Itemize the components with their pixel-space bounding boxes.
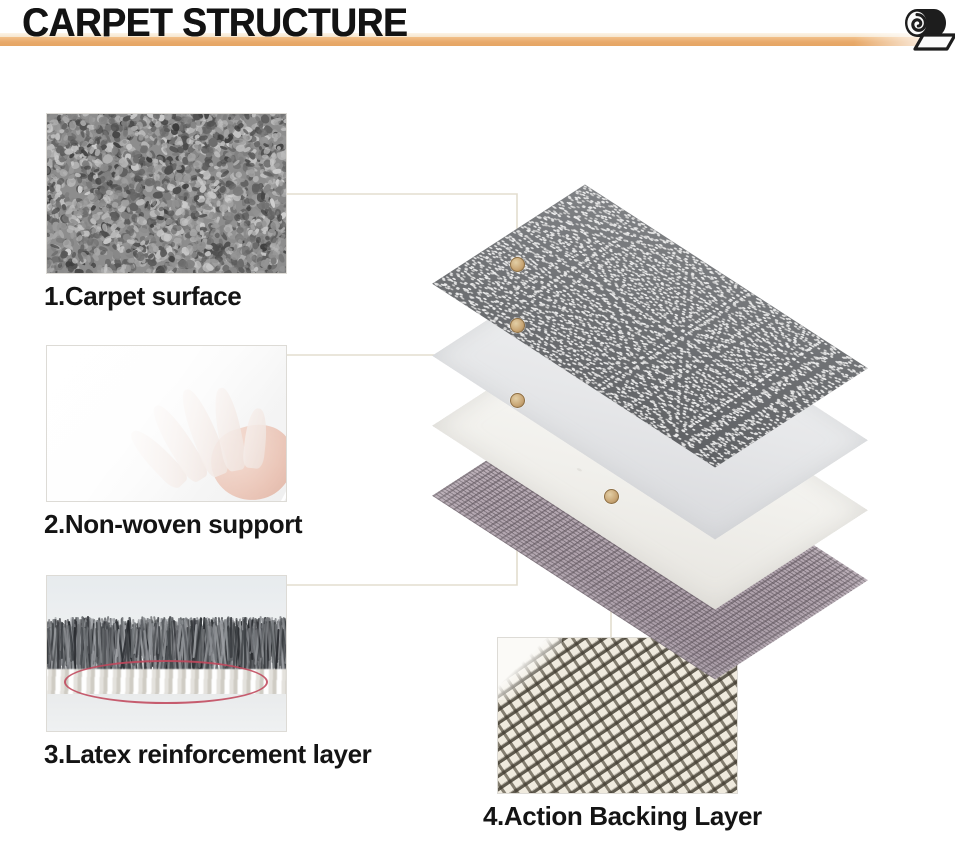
header: CARPET STRUCTURE — [0, 0, 969, 62]
caption-layer-4: 4.Action Backing Layer — [483, 801, 762, 832]
translucent-sheet-overlay — [47, 346, 286, 501]
layer-marker-3[interactable] — [510, 393, 525, 408]
page-title: CARPET STRUCTURE — [22, 1, 407, 46]
carpet-roll-icon — [893, 5, 955, 53]
layer-marker-2[interactable] — [510, 318, 525, 333]
non-woven-support-thumbnail — [46, 345, 287, 502]
infographic-canvas: CARPET STRUCTURE 1.Carpet surface — [0, 0, 969, 841]
highlight-ellipse — [64, 660, 269, 704]
carpet-surface-thumbnail — [46, 113, 287, 274]
latex-reinforcement-thumbnail — [46, 575, 287, 732]
caption-layer-2: 2.Non-woven support — [44, 509, 302, 540]
layer-marker-4[interactable] — [604, 489, 619, 504]
mesh-corner-fade — [498, 638, 562, 700]
carpet-pile-texture — [46, 113, 287, 274]
layer-marker-1[interactable] — [510, 257, 525, 272]
caption-layer-1: 1.Carpet surface — [44, 281, 241, 312]
caption-layer-3: 3.Latex reinforcement layer — [44, 739, 371, 770]
exploded-layer-stack — [455, 185, 955, 545]
